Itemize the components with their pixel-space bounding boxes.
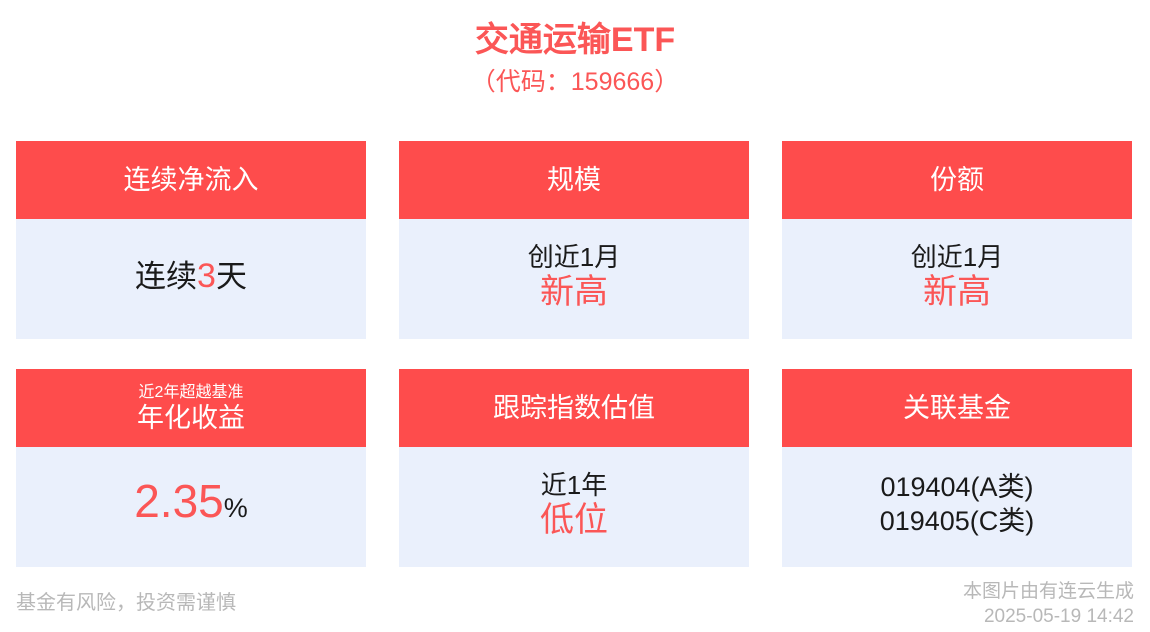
- metric-card-grid: 连续净流入 连续3天 规模 创近1月 新高 份额 创近1月 新高: [16, 141, 1134, 567]
- percent-number: 2.35: [134, 475, 224, 527]
- card-value-net-inflow: 连续3天: [135, 256, 247, 297]
- card-header-title: 跟踪指数估值: [493, 391, 655, 425]
- page-title: 交通运输ETF: [0, 18, 1150, 62]
- card-header-index-valuation: 跟踪指数估值: [399, 369, 749, 447]
- card-value-line1: 创近1月: [911, 241, 1003, 273]
- value-prefix: 连续: [135, 259, 197, 294]
- related-fund-code-c: 019405(C类): [880, 504, 1035, 538]
- card-body-scale: 创近1月 新高: [399, 219, 749, 339]
- card-value-line1: 创近1月: [528, 241, 620, 273]
- card-value-line1: 近1年: [541, 469, 607, 501]
- value-suffix: 天: [216, 259, 247, 294]
- card-header-related-funds: 关联基金: [782, 369, 1132, 447]
- card-header-title: 份额: [930, 163, 984, 197]
- risk-disclaimer: 基金有风险，投资需谨慎: [16, 575, 236, 617]
- card-header-subtitle: 近2年超越基准: [139, 383, 244, 403]
- card-header-annualized-excess-return: 近2年超越基准 年化收益: [16, 369, 366, 447]
- credit-source: 本图片由有连云生成: [963, 579, 1134, 604]
- metric-card-related-funds: 关联基金 019404(A类) 019405(C类): [782, 369, 1132, 567]
- card-body-shares: 创近1月 新高: [782, 219, 1132, 339]
- card-header-title: 关联基金: [903, 391, 1011, 425]
- card-value-percent: 2.35%: [134, 477, 248, 532]
- poster-footer: 基金有风险，投资需谨慎 本图片由有连云生成 2025-05-19 14:42: [0, 575, 1150, 632]
- metric-card-index-valuation: 跟踪指数估值 近1年 低位: [399, 369, 749, 567]
- card-header-shares: 份额: [782, 141, 1132, 219]
- poster-header: 交通运输ETF （代码：159666）: [0, 0, 1150, 100]
- card-body-annualized-excess-return: 2.35%: [16, 447, 366, 567]
- card-body-net-inflow: 连续3天: [16, 219, 366, 339]
- metric-card-annualized-excess-return: 近2年超越基准 年化收益 2.35%: [16, 369, 366, 567]
- card-header-title: 规模: [547, 163, 601, 197]
- card-body-index-valuation: 近1年 低位: [399, 447, 749, 567]
- card-header-scale: 规模: [399, 141, 749, 219]
- fund-code-subtitle: （代码：159666）: [0, 64, 1150, 100]
- metric-card-shares: 份额 创近1月 新高: [782, 141, 1132, 339]
- card-header-title: 年化收益: [137, 403, 245, 434]
- card-value-line2: 低位: [540, 501, 608, 539]
- card-header-title: 连续净流入: [124, 163, 259, 197]
- metric-card-net-inflow: 连续净流入 连续3天: [16, 141, 366, 339]
- generation-credit: 本图片由有连云生成 2025-05-19 14:42: [963, 575, 1134, 629]
- card-header-net-inflow: 连续净流入: [16, 141, 366, 219]
- card-value-line2: 新高: [540, 273, 608, 311]
- card-body-related-funds: 019404(A类) 019405(C类): [782, 447, 1132, 567]
- etf-summary-poster: 交通运输ETF （代码：159666） 连续净流入 连续3天 规模 创近1月 新…: [0, 0, 1150, 632]
- related-fund-code-a: 019404(A类): [880, 470, 1033, 504]
- value-accent-days: 3: [197, 257, 216, 295]
- percent-unit: %: [224, 493, 248, 523]
- metric-card-scale: 规模 创近1月 新高: [399, 141, 749, 339]
- credit-timestamp: 2025-05-19 14:42: [963, 604, 1134, 629]
- card-value-line2: 新高: [923, 273, 991, 311]
